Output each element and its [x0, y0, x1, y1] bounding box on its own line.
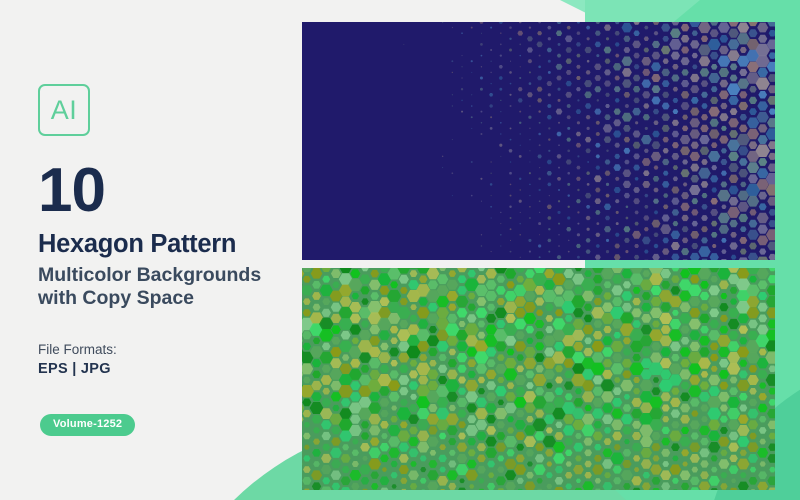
hexagon-cell [708, 420, 720, 430]
hexagon-cell [768, 275, 775, 283]
hexagon-cell [302, 482, 303, 490]
hexagon-cell [510, 127, 512, 129]
hexagon-cell [691, 209, 698, 215]
hexagon-cell [544, 415, 555, 424]
hexagon-cell [546, 427, 553, 433]
hexagon-cell [738, 482, 749, 490]
hexagon-cell [711, 64, 718, 70]
hexagon-cell [410, 304, 417, 310]
hexagon-cell [476, 398, 487, 408]
hexagon-cell [452, 27, 453, 28]
hexagon-cell [737, 22, 749, 32]
hexagon-cell [595, 143, 600, 148]
hexagon-cell [728, 29, 738, 38]
hexagon-cell [497, 455, 504, 461]
hexagon-cell [576, 65, 580, 69]
hexagon-cell [515, 387, 525, 396]
hexagon-cell [641, 303, 651, 312]
hexagon-cell [390, 338, 397, 344]
hexagon-cell [311, 392, 321, 401]
hexagon-cell [718, 437, 729, 447]
hexagon-cell [710, 253, 719, 260]
hexagon-cell [635, 211, 639, 215]
hexagon-cell [419, 354, 427, 361]
hexagon-cell [602, 370, 612, 379]
hexagon-cell [661, 281, 670, 289]
hexagon-cell [466, 347, 477, 356]
hexagon-cell [352, 293, 359, 299]
hexagon-cell [718, 22, 730, 32]
hexagon-cell [593, 275, 603, 283]
hexagon-cell [331, 460, 341, 468]
hexagon-cell [748, 331, 758, 340]
hexagon-cell [529, 162, 530, 163]
hexagon-cell [661, 438, 670, 446]
hexagon-cell [517, 478, 524, 484]
hexagon-cell [417, 307, 430, 318]
hexagon-cell [538, 110, 540, 112]
hexagon-cell [730, 377, 738, 384]
hexagon-cell [653, 109, 659, 114]
hexagon-cell [594, 444, 601, 450]
hexagon-cell [555, 377, 563, 384]
hexagon-cell [707, 408, 721, 420]
hexagon-cell [495, 341, 506, 351]
hexagon-cell [749, 86, 757, 93]
hexagon-cell [757, 225, 768, 234]
hexagon-cell [721, 205, 726, 209]
hexagon-cell [662, 238, 668, 244]
hexagon-cell [592, 268, 603, 273]
hexagon-cell [529, 105, 531, 107]
hexagon-cell [767, 454, 775, 463]
hexagon-cell [624, 439, 630, 444]
hexagon-cell [555, 432, 564, 440]
hexagon-cell [595, 233, 600, 237]
hexagon-cell [352, 439, 358, 445]
hexagon-cell [448, 483, 456, 490]
hexagon-cell [534, 431, 544, 440]
hexagon-cell [730, 287, 738, 294]
hexagon-cell [516, 455, 525, 463]
hexagon-cell [400, 489, 407, 490]
hexagon-cell [701, 237, 708, 243]
hexagon-cell [487, 461, 495, 468]
hexagon-cell [410, 270, 418, 277]
hexagon-cell [302, 268, 312, 272]
hexagon-cell [390, 326, 399, 333]
hexagon-cell [729, 175, 739, 183]
hexagon-cell [331, 471, 342, 480]
hexagon-cell [341, 476, 351, 485]
hexagon-cell [613, 164, 621, 171]
hexagon-cell [558, 189, 560, 191]
hexagon-cell [447, 314, 457, 323]
hexagon-cell [682, 238, 688, 244]
hexagon-cell [486, 415, 496, 423]
hexagon-cell [574, 287, 583, 295]
hexagon-cell [624, 394, 630, 399]
hexagon-cell [339, 408, 351, 419]
hexagon-cell [459, 321, 466, 327]
hexagon-cell [721, 181, 728, 187]
hexagon-cell [701, 416, 708, 422]
hexagon-cell [458, 421, 466, 428]
hexagon-cell [603, 448, 613, 457]
hexagon-cell [681, 427, 689, 434]
hexagon-cell [587, 60, 590, 63]
hexagon-cell [417, 431, 429, 442]
hexagon-cell [605, 93, 610, 97]
hexagon-cell [689, 297, 700, 306]
hexagon-cell [499, 65, 503, 69]
hexagon-cell [615, 177, 619, 181]
hexagon-cell [410, 394, 417, 400]
hexagon-cell [689, 330, 700, 340]
hexagon-cell [612, 268, 623, 273]
hexagon-cell [400, 421, 408, 428]
hexagon-cell [534, 464, 546, 475]
hexagon-cell [711, 188, 717, 193]
hexagon-cell [670, 465, 682, 475]
hexagon-cell [567, 183, 570, 186]
hexagon-cell [487, 304, 495, 311]
hexagon-cell [643, 215, 649, 220]
hexagon-cell [547, 115, 552, 119]
hexagon-cell [709, 320, 719, 328]
hexagon-cell [614, 109, 621, 115]
hexagon-cell [680, 347, 691, 356]
hexagon-cell [510, 228, 512, 230]
hexagon-cell [362, 456, 368, 461]
hexagon-cell [769, 209, 775, 215]
hexagon-cell [584, 472, 591, 478]
hexagon-cell [594, 421, 602, 428]
hexagon-cell [672, 120, 679, 126]
hexagon-cell [576, 132, 581, 137]
hexagon-cell [738, 202, 749, 212]
hexagon-cell [436, 307, 449, 318]
hexagon-cell [632, 298, 641, 305]
hexagon-cell [698, 246, 710, 257]
hexagon-cell [605, 216, 610, 220]
hexagon-cell [442, 167, 443, 168]
hexagon-cell [653, 199, 659, 204]
hexagon-cell [662, 125, 670, 132]
hexagon-cell [448, 359, 457, 367]
hexagon-cell [458, 388, 466, 395]
hexagon-cell [739, 125, 748, 132]
hexagon-cell [548, 60, 551, 63]
hexagon-cell [576, 54, 580, 58]
hexagon-cell [691, 142, 699, 149]
hexagon-cell [615, 22, 620, 24]
hexagon-cell [757, 23, 768, 33]
hexagon-cell [709, 129, 720, 138]
hexagon-cell [547, 81, 553, 86]
hexagon-cell [577, 223, 579, 225]
hexagon-cell [437, 274, 448, 284]
hexagon-cell [663, 137, 669, 143]
hexagon-cell [517, 489, 524, 490]
hexagon-cell [688, 385, 701, 396]
hexagon-cell [381, 433, 388, 439]
hexagon-cell [680, 146, 690, 155]
hexagon-cell [644, 227, 649, 231]
hexagon-cell [584, 80, 592, 87]
hexagon-cell [408, 280, 419, 289]
hexagon-cell [719, 382, 728, 390]
hexagon-cell [486, 269, 497, 279]
hexagon-cell [303, 298, 311, 305]
hexagon-cell [547, 216, 551, 220]
page-subtitle-line-2: with Copy Space [38, 287, 300, 310]
hexagon-cell [477, 455, 486, 463]
hexagon-cell [613, 466, 622, 474]
hexagon-cell [458, 377, 466, 384]
hexagon-cell [641, 459, 652, 469]
hexagon-cell [672, 153, 680, 160]
hexagon-cell [699, 336, 710, 346]
hexagon-cell [564, 269, 574, 278]
hexagon-cell [510, 83, 512, 85]
hexagon-cell [709, 268, 719, 272]
hexagon-cell [602, 403, 613, 413]
hexagon-cell [719, 113, 728, 121]
hexagon-cell [516, 276, 524, 283]
hexagon-cell [738, 146, 749, 155]
hexagon-cell [370, 270, 379, 277]
hexagon-cell [509, 49, 512, 52]
hexagon-cell [739, 393, 748, 401]
hexagon-cell [458, 275, 467, 283]
hexagon-cell [475, 408, 488, 419]
hexagon-cell [448, 304, 456, 311]
hexagon-cell [342, 354, 349, 360]
hexagon-cell [576, 32, 580, 35]
hexagon-cell [729, 465, 739, 473]
hexagon-cell [679, 291, 691, 301]
hexagon-cell [478, 489, 486, 490]
hexagon-cell [719, 303, 728, 311]
hexagon-cell [653, 455, 660, 461]
hexagon-cell [759, 249, 766, 255]
hexagon-cell [320, 487, 333, 490]
hexagon-cell [625, 250, 628, 253]
hexagon-cell [544, 347, 554, 356]
hexagon-cell [622, 460, 631, 468]
hexagon-cell [740, 47, 747, 53]
hexagon-cell [718, 459, 729, 469]
hexagon-cell [388, 425, 401, 436]
hexagon-cell [520, 66, 521, 67]
hexagon-cell [361, 268, 369, 271]
hexagon-cell [767, 22, 775, 26]
hexagon-cell [548, 37, 551, 40]
hexagon-cell [369, 448, 381, 459]
hexagon-cell [759, 383, 766, 389]
ai-badge-label: AI [51, 97, 78, 124]
hexagon-cell [452, 139, 453, 140]
hexagon-cell [555, 466, 563, 473]
hexagon-cell [408, 471, 419, 480]
hexagon-cell [727, 50, 739, 61]
hexagon-cell [351, 483, 359, 490]
hexagon-cell [692, 31, 698, 36]
hexagon-cell [529, 150, 530, 151]
hexagon-cell [662, 36, 669, 42]
hexagon-cell [529, 206, 531, 208]
hexagon-cell [447, 392, 458, 402]
hexagon-cell [614, 86, 621, 92]
hexagon-cell [533, 374, 547, 386]
hexagon-cell [592, 409, 604, 419]
hexagon-cell [565, 92, 572, 98]
hexagon-cell [662, 92, 669, 98]
hexagon-cell [758, 303, 768, 312]
hexagon-cell [652, 321, 660, 328]
hexagon-cell [409, 404, 418, 412]
hexagon-cell [604, 69, 611, 75]
hexagon-cell [556, 76, 561, 81]
hexagon-cell [767, 320, 775, 329]
hexagon-cell [471, 128, 472, 129]
hexagon-cell [615, 199, 620, 203]
ai-format-badge: AI [38, 84, 90, 136]
hexagon-cell [558, 234, 559, 235]
hexagon-cell [449, 349, 456, 355]
hexagon-cell [584, 304, 592, 311]
hexagon-cell [417, 420, 429, 430]
hexagon-cell [545, 449, 553, 456]
hexagon-cell [341, 454, 351, 463]
hexagon-cell [380, 398, 390, 406]
hexagon-cell [567, 104, 571, 108]
hexagon-cell [369, 325, 380, 334]
hexagon-cell [500, 111, 501, 112]
hexagon-cell [749, 108, 757, 115]
hexagon-cell [737, 459, 749, 470]
hexagon-cell [528, 116, 531, 119]
hexagon-cell [700, 292, 710, 300]
hexagon-cell [500, 100, 501, 101]
hexagon-cell [651, 62, 661, 71]
hexagon-cell [313, 439, 320, 445]
hexagon-cell [544, 392, 555, 402]
hexagon-cell [490, 116, 492, 118]
hexagon-cell [547, 104, 551, 108]
hexagon-cell [429, 326, 437, 333]
hexagon-cell [500, 212, 501, 213]
hexagon-cell [417, 442, 429, 453]
hexagon-cell [322, 343, 331, 351]
hexagon-cell [548, 150, 550, 152]
hexagon-cell [331, 269, 341, 278]
hexagon-cell [575, 268, 582, 271]
hexagon-cell [689, 442, 700, 452]
hexagon-cell [529, 139, 531, 141]
hexagon-cell [700, 68, 710, 76]
hexagon-cell [748, 22, 758, 26]
hexagon-cell [467, 415, 476, 423]
hexagon-cell [387, 290, 401, 302]
hexagon-cell [520, 257, 521, 258]
hexagon-cell [652, 387, 661, 395]
hexagon-cell [442, 156, 443, 157]
hexagon-cell [352, 461, 359, 467]
hexagon-cell [711, 455, 718, 461]
hexagon-cell [701, 215, 708, 221]
hexagon-cell [739, 91, 747, 98]
hexagon-cell [536, 489, 544, 490]
hexagon-cell [587, 161, 589, 163]
hexagon-cell [331, 314, 341, 323]
hexagon-cell [652, 85, 661, 93]
hexagon-cell [602, 347, 613, 356]
hexagon-cell [673, 177, 678, 182]
hexagon-cell [680, 415, 690, 424]
hexagon-cell [690, 40, 700, 48]
hexagon-cell [489, 93, 493, 97]
hexagon-cell [568, 194, 570, 196]
hexagon-cell [504, 358, 516, 369]
hexagon-cell [768, 141, 775, 149]
hexagon-cell [711, 221, 717, 227]
hexagon-cell [581, 425, 594, 437]
hexagon-cell [535, 387, 544, 395]
hexagon-cell [603, 359, 612, 367]
hexagon-cell [400, 399, 408, 406]
hexagon-cell [614, 377, 620, 383]
hexagon-cell [546, 484, 552, 489]
hexagon-cell [497, 276, 505, 283]
hexagon-cell [729, 197, 739, 205]
hexagon-cell [632, 488, 642, 490]
hexagon-cell [400, 287, 408, 294]
hexagon-cell [632, 320, 641, 327]
hexagon-cell [604, 226, 611, 232]
hexagon-cell [730, 108, 738, 115]
hexagon-cell [382, 467, 387, 471]
hexagon-cell [718, 213, 730, 223]
hexagon-cell [497, 298, 505, 305]
hexagon-cell [710, 198, 718, 205]
hexagon-cell [399, 454, 409, 463]
hexagon-cell [690, 118, 701, 127]
hexagon-cell [549, 195, 550, 196]
hexagon-cell [361, 421, 369, 428]
hexagon-cell [601, 380, 615, 392]
hexagon-cell [623, 404, 632, 411]
hexagon-cell [593, 432, 603, 441]
hexagon-cell [644, 205, 648, 209]
hexagon-cell [509, 38, 511, 40]
hexagon-cell [672, 64, 678, 70]
hexagon-cell [529, 71, 531, 73]
hexagon-cell [721, 238, 726, 243]
hexagon-cell [519, 234, 521, 236]
hexagon-cell [563, 359, 574, 368]
hexagon-cell [728, 96, 738, 105]
hexagon-cell [529, 128, 530, 129]
hexagon-cell [524, 313, 537, 324]
hexagon-cell [661, 392, 671, 401]
hexagon-cell [634, 255, 639, 260]
hexagon-cell [467, 359, 476, 367]
hexagon-cell [605, 171, 611, 176]
hexagon-cell [748, 454, 758, 463]
hexagon-cell [681, 248, 689, 255]
